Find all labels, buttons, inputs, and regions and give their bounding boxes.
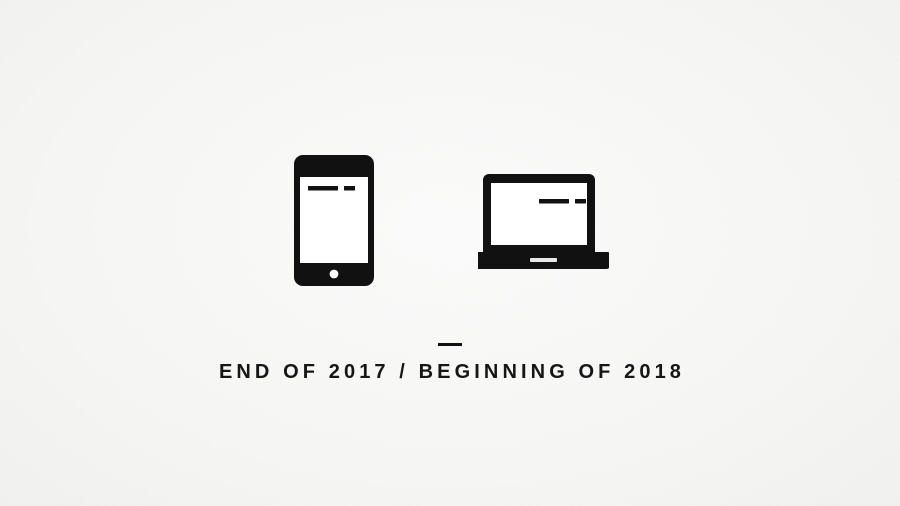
caption-divider-rule [438,343,462,346]
smartphone-home-button [330,270,339,279]
smartphone-screen-line-long [308,186,338,191]
laptop-icon [478,174,609,270]
smartphone-illustration [294,155,374,291]
caption-title: END OF 2017 / BEGINNING OF 2018 [0,361,900,383]
laptop-screen-line-short [575,199,586,204]
laptop-screen-line-long [539,199,569,204]
laptop-trackpad [530,258,557,262]
slide-canvas: END OF 2017 / BEGINNING OF 2018 [0,0,900,506]
smartphone-icon [294,155,374,286]
smartphone-screen-line-short [344,186,355,191]
laptop-illustration [478,174,609,275]
device-illustration-group [0,148,900,293]
caption-block: END OF 2017 / BEGINNING OF 2018 [0,343,900,383]
